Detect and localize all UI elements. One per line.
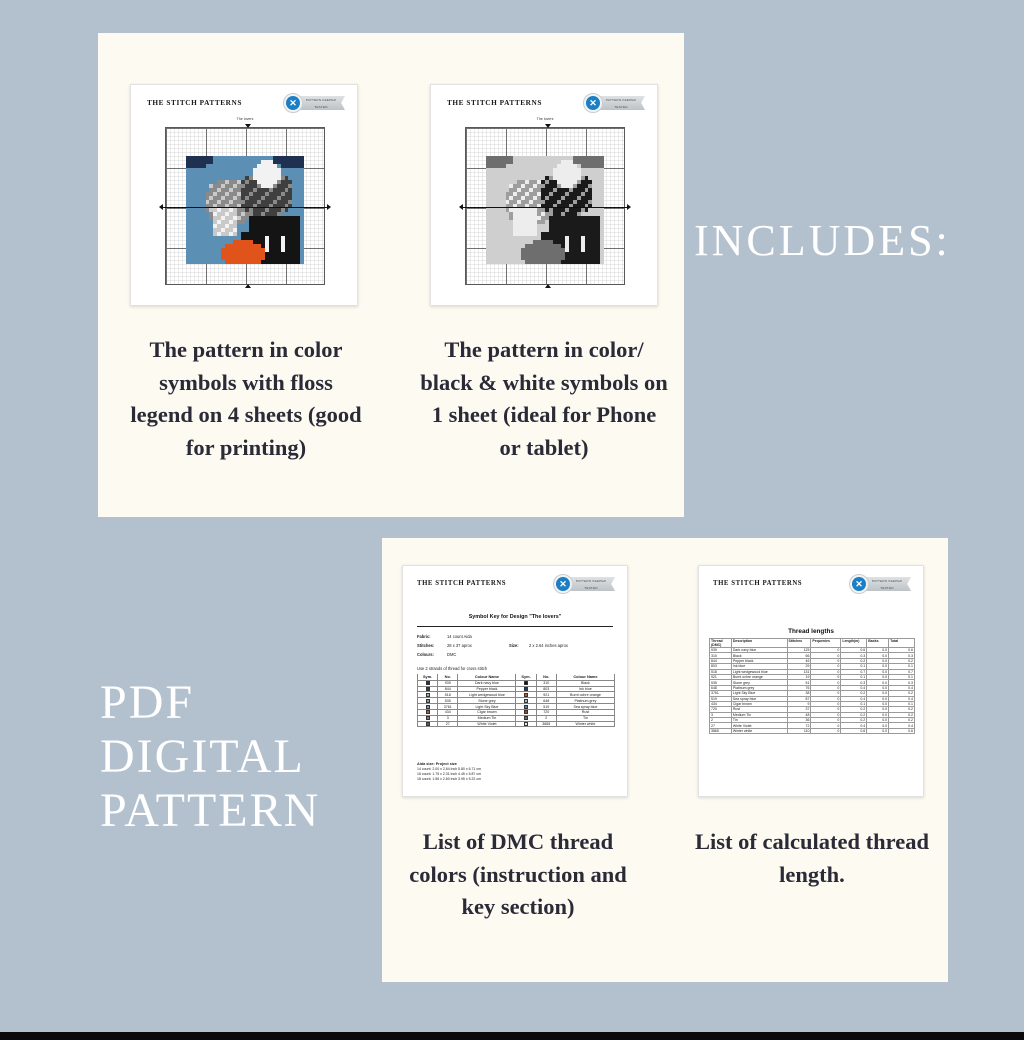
table-row: 27White Violet3865Winter white <box>418 721 615 727</box>
chart-grid <box>165 127 325 285</box>
center-axis-horizontal <box>161 207 329 208</box>
key-meta-label2: Size: <box>509 641 529 650</box>
swatch <box>426 693 430 697</box>
pattern-sheet-bw[interactable]: THE STITCH PATTERNS PATTERN KEEPER TESTE… <box>430 84 658 306</box>
headline-line: DIGITAL <box>100 730 320 784</box>
pdf-digital-pattern-heading: PDFDIGITALPATTERN <box>100 676 320 837</box>
key-footer-title: Aida size: Project size <box>417 762 457 766</box>
chart-cell <box>620 280 624 284</box>
caption-thread-length: List of calculated thread length. <box>694 826 930 891</box>
table-cell: 3865 <box>710 728 732 733</box>
swatch <box>524 693 528 697</box>
key-meta-row: Colours:DMC <box>417 650 615 659</box>
table-header-row: Thread(DMC)DescriptionStitchesPequeniesL… <box>710 639 915 648</box>
pattern-keeper-badge: PATTERN KEEPER TESTED ✕ <box>553 574 615 594</box>
key-meta-row: Stitches:28 x 37 aproxSize:2 x 2.64 inch… <box>417 641 615 650</box>
caption-color-symbols: The pattern in color symbols with floss … <box>128 334 364 465</box>
table-cell: 0.0 <box>867 728 889 733</box>
chart-grid <box>465 127 625 285</box>
color-swatch <box>516 721 536 727</box>
axis-marker-left <box>159 204 163 210</box>
swatch <box>524 710 528 714</box>
axis-marker-right <box>627 204 631 210</box>
column-header: Thread(DMC) <box>710 639 732 648</box>
column-header: Description <box>731 639 787 648</box>
key-footer: Aida size: Project size 14 count: 2.00 x… <box>417 762 481 782</box>
chart-label: The lovers <box>459 117 631 121</box>
thread-lengths-table: Thread(DMC)DescriptionStitchesPequeniesL… <box>709 638 915 734</box>
headline-line: PATTERN <box>100 784 320 838</box>
key-footer-lines: 14 count: 2.00 x 2.64 inch 5.80 x 6.71 c… <box>417 767 481 782</box>
swatch <box>524 705 528 709</box>
headline-line: PDF <box>100 676 320 730</box>
table-cell: Winter white <box>556 721 614 727</box>
key-meta-list: Fabric:14 count AidaStitches:28 x 37 apr… <box>417 632 615 659</box>
axis-marker-right <box>327 204 331 210</box>
chart-cell <box>320 280 324 284</box>
pattern-keeper-badge: PATTERN KEEPER TESTED ✕ <box>283 93 345 113</box>
table-cell: 0.6 <box>889 728 915 733</box>
footer-line: 18 count: 1.56 x 2.60 inch 3.95 x 5.22 c… <box>417 777 481 782</box>
x-circle-icon: ✕ <box>849 574 869 594</box>
badge-ribbon: PATTERN KEEPER TESTED <box>297 96 345 110</box>
table-cell: White Violet <box>458 721 516 727</box>
badge-line1: PATTERN KEEPER <box>567 577 615 584</box>
x-circle-icon: ✕ <box>283 93 303 113</box>
center-axis-horizontal <box>461 207 629 208</box>
column-header: Total <box>889 639 915 648</box>
x-circle-icon: ✕ <box>553 574 573 594</box>
swatch <box>524 722 528 726</box>
badge-line2: TESTED <box>297 103 345 110</box>
swatch <box>426 716 430 720</box>
axis-marker-left <box>459 204 463 210</box>
bottom-black-bar <box>0 1032 1024 1040</box>
key-note: Use 2 strands of thread for cross stitch <box>417 666 487 671</box>
key-meta-row: Fabric:14 count Aida <box>417 632 615 641</box>
color-swatch <box>418 721 438 727</box>
swatch <box>426 681 430 685</box>
caption-dmc-list: List of DMC thread colors (instruction a… <box>404 826 632 924</box>
chart-label: The lovers <box>159 117 331 121</box>
chart-motif-bw <box>466 128 624 284</box>
sheet-brand-title: THE STITCH PATTERNS <box>417 580 506 587</box>
badge-line2: TESTED <box>863 584 911 591</box>
swatch <box>524 699 528 703</box>
pattern-keeper-badge: PATTERN KEEPER TESTED ✕ <box>849 574 911 594</box>
key-meta-label: Stitches: <box>417 641 447 650</box>
table-cell: 0 <box>811 728 841 733</box>
table-body: 939Dark navy blue310Black844Pepper black… <box>418 680 615 727</box>
swatch <box>426 722 430 726</box>
table-cell: 27 <box>438 721 458 727</box>
swatch <box>426 710 430 714</box>
swatch <box>426 687 430 691</box>
key-meta-label2 <box>509 650 529 659</box>
badge-line2: TESTED <box>597 103 645 110</box>
column-header: Backs <box>867 639 889 648</box>
key-meta-label: Fabric: <box>417 632 447 641</box>
key-meta-label: Colours: <box>417 650 447 659</box>
badge-line2: TESTED <box>567 584 615 591</box>
axis-marker-bottom <box>245 284 251 288</box>
swatch <box>426 699 430 703</box>
thread-lengths-heading: Thread lengths <box>699 628 923 635</box>
thread-lengths-sheet[interactable]: THE STITCH PATTERNS PATTERN KEEPER TESTE… <box>698 565 924 797</box>
key-meta-value2 <box>529 632 591 641</box>
badge-line1: PATTERN KEEPER <box>597 96 645 103</box>
axis-marker-top <box>245 124 251 128</box>
table-row: 3865Winter white11000.60.00.6 <box>710 728 915 733</box>
badge-ribbon: PATTERN KEEPER TESTED <box>597 96 645 110</box>
key-meta-value2: 2 x 2.64 inches aprox <box>529 641 591 650</box>
key-meta-value: 14 count Aida <box>447 632 509 641</box>
color-chart: The lovers <box>159 125 331 293</box>
includes-heading: INCLUDES: <box>694 216 951 265</box>
column-header: Stitches <box>787 639 811 648</box>
table-cell: 0.6 <box>841 728 867 733</box>
swatch <box>524 687 528 691</box>
table-cell: 3865 <box>536 721 556 727</box>
column-header: Length(m) <box>841 639 867 648</box>
symbol-key-sheet[interactable]: THE STITCH PATTERNS PATTERN KEEPER TESTE… <box>402 565 628 797</box>
badge-ribbon: PATTERN KEEPER TESTED <box>863 577 911 591</box>
axis-marker-bottom <box>545 284 551 288</box>
bw-chart: The lovers <box>459 125 631 293</box>
sheet-brand-title: THE STITCH PATTERNS <box>147 98 242 107</box>
key-meta-value: 28 x 37 aprox <box>447 641 509 650</box>
table-cell: 110 <box>787 728 811 733</box>
swatch <box>524 716 528 720</box>
sheet-brand-title: THE STITCH PATTERNS <box>713 580 802 587</box>
table-cell: Winter white <box>731 728 787 733</box>
poster-canvas: THE STITCH PATTERNS PATTERN KEEPER TESTE… <box>0 0 1024 1040</box>
badge-line1: PATTERN KEEPER <box>863 577 911 584</box>
symbol-key-table: Sym.No.Colour NameSym.No.Colour Name 939… <box>417 674 615 727</box>
key-meta-label2 <box>509 632 529 641</box>
sheet-brand-title: THE STITCH PATTERNS <box>447 98 542 107</box>
pattern-sheet-color[interactable]: THE STITCH PATTERNS PATTERN KEEPER TESTE… <box>130 84 358 306</box>
chart-motif-color <box>166 128 324 284</box>
axis-marker-top <box>545 124 551 128</box>
swatch <box>524 681 528 685</box>
badge-ribbon: PATTERN KEEPER TESTED <box>567 577 615 591</box>
column-header: Pequenies <box>811 639 841 648</box>
key-meta-value2 <box>529 650 591 659</box>
key-meta-value: DMC <box>447 650 509 659</box>
symbol-key-heading: Symbol Key for Design "The lovers" <box>403 614 627 620</box>
table-body: 939Dark navy blue12500.60.00.6310Black66… <box>710 648 915 734</box>
key-divider <box>417 626 613 627</box>
x-circle-icon: ✕ <box>583 93 603 113</box>
pattern-keeper-badge: PATTERN KEEPER TESTED ✕ <box>583 93 645 113</box>
caption-bw-symbols: The pattern in color/ black & white symb… <box>420 334 668 465</box>
badge-line1: PATTERN KEEPER <box>297 96 345 103</box>
swatch <box>426 705 430 709</box>
